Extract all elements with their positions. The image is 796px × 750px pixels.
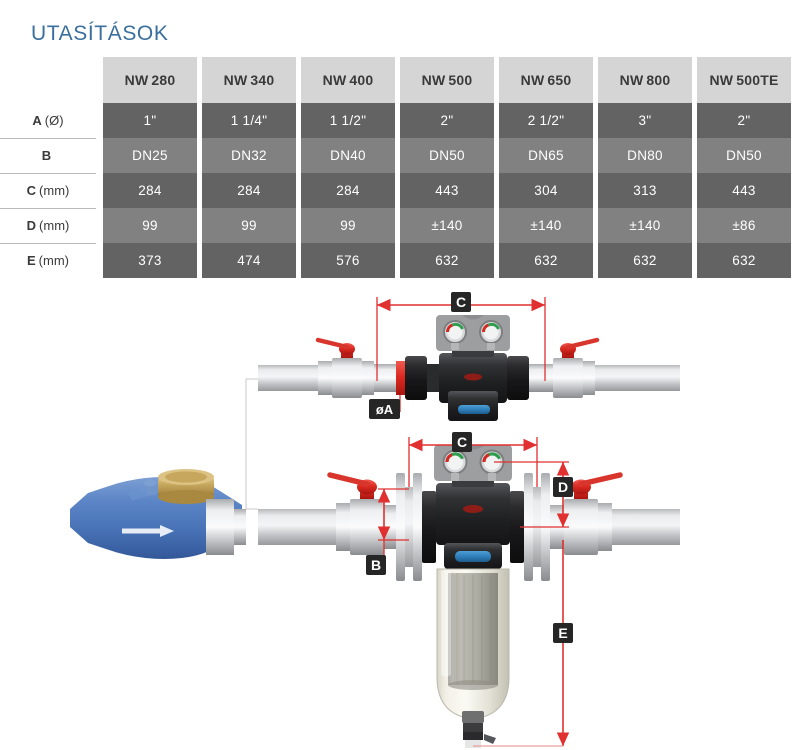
table-column-3: NW500 2" DN50 443 ±140 632 <box>400 57 494 278</box>
reset-button-bottom <box>455 551 491 562</box>
row-key-a: A <box>32 113 41 128</box>
ball-valve-left <box>318 340 374 398</box>
cell-0-2: 1 1/2" <box>301 103 395 138</box>
ball-valve-left-bottom <box>330 475 384 555</box>
row-unit-e: (mm) <box>39 253 69 268</box>
dimension-a-diameter: øA <box>369 395 400 419</box>
cell-4-6: 632 <box>697 243 791 278</box>
column-prefix-3: NW <box>422 72 446 88</box>
cell-0-1: 1 1/4" <box>202 103 296 138</box>
top-assembly <box>258 315 680 421</box>
row-unit-d: (mm) <box>39 218 69 233</box>
valve-lever-left <box>318 340 347 347</box>
bottom-assembly <box>258 445 680 748</box>
cell-3-5: ±140 <box>598 208 692 243</box>
filter-head-top <box>427 315 510 421</box>
cell-1-4: DN65 <box>499 138 593 173</box>
dimension-label-a: øA <box>376 402 394 417</box>
row-label-column: A (Ø) B C (mm) D (mm) E (mm) <box>0 57 100 287</box>
table-column-1: NW340 1 1/4" DN32 284 99 474 <box>202 57 296 278</box>
cell-1-0: DN25 <box>103 138 197 173</box>
cell-3-3: ±140 <box>400 208 494 243</box>
filter-head-bottom <box>434 445 512 569</box>
dimension-label-d: D <box>558 479 568 495</box>
column-prefix-5: NW <box>620 72 644 88</box>
product-diagram: C øA <box>0 287 796 750</box>
column-model-1: 340 <box>250 72 274 88</box>
column-header-3: NW500 <box>400 57 494 103</box>
row-label-c: C (mm) <box>0 173 96 209</box>
specification-table: A (Ø) B C (mm) D (mm) E (mm) NW280 1" DN… <box>0 57 796 287</box>
row-label-e: E (mm) <box>0 243 96 278</box>
row-unit-c: (mm) <box>39 183 69 198</box>
brand-mark-top <box>464 374 482 381</box>
cell-1-6: DN50 <box>697 138 791 173</box>
valve-lever-right <box>568 340 597 347</box>
cell-4-3: 632 <box>400 243 494 278</box>
filter-bowl <box>437 569 509 719</box>
dimension-label-c-top: C <box>456 294 466 310</box>
column-header-4: NW650 <box>499 57 593 103</box>
cell-2-0: 284 <box>103 173 197 208</box>
union-ring-a <box>396 361 405 395</box>
cell-0-4: 2 1/2" <box>499 103 593 138</box>
cell-3-4: ±140 <box>499 208 593 243</box>
column-prefix-1: NW <box>224 72 248 88</box>
cell-4-0: 373 <box>103 243 197 278</box>
reference-guide-lines <box>246 379 258 509</box>
column-model-2: 400 <box>349 72 373 88</box>
pipe-right-outer-bottom <box>612 509 680 545</box>
row-key-b: B <box>42 148 51 163</box>
cell-0-5: 3" <box>598 103 692 138</box>
valve-lever-left-bottom <box>330 475 367 484</box>
dimension-label-e: E <box>558 625 567 641</box>
union-nut-right <box>507 356 529 400</box>
pipe-left-outer <box>258 365 318 391</box>
cell-2-4: 304 <box>499 173 593 208</box>
cell-2-3: 443 <box>400 173 494 208</box>
column-header-0: NW280 <box>103 57 197 103</box>
cell-2-1: 284 <box>202 173 296 208</box>
cell-3-6: ±86 <box>697 208 791 243</box>
cell-4-4: 632 <box>499 243 593 278</box>
row-key-d: D <box>27 218 36 233</box>
cell-1-3: DN50 <box>400 138 494 173</box>
column-prefix-6: NW <box>710 72 734 88</box>
cell-3-2: 99 <box>301 208 395 243</box>
reset-button-top <box>458 405 490 414</box>
cell-2-6: 443 <box>697 173 791 208</box>
union-nut-left <box>405 356 427 400</box>
row-key-c: C <box>27 183 36 198</box>
cell-1-2: DN40 <box>301 138 395 173</box>
cell-0-6: 2" <box>697 103 791 138</box>
brand-mark-bottom <box>463 505 483 513</box>
meter-outlet-nut <box>206 499 234 555</box>
cell-4-2: 576 <box>301 243 395 278</box>
column-model-0: 280 <box>151 72 175 88</box>
table-column-2: NW400 1 1/2" DN40 284 99 576 <box>301 57 395 278</box>
column-prefix-4: NW <box>521 72 545 88</box>
dimension-label-b: B <box>371 557 381 573</box>
cell-3-0: 99 <box>103 208 197 243</box>
meter-brass-cap <box>158 469 214 504</box>
row-unit-a: (Ø) <box>45 113 64 128</box>
column-header-6: NW500TE <box>697 57 791 103</box>
column-prefix-2: NW <box>323 72 347 88</box>
cell-0-0: 1" <box>103 103 197 138</box>
cell-4-1: 474 <box>202 243 296 278</box>
column-model-4: 650 <box>547 72 571 88</box>
cell-2-2: 284 <box>301 173 395 208</box>
row-label-b: B <box>0 138 96 174</box>
cell-3-1: 99 <box>202 208 296 243</box>
column-model-5: 800 <box>646 72 670 88</box>
table-column-4: NW650 2 1/2" DN65 304 ±140 632 <box>499 57 593 278</box>
column-prefix-0: NW <box>125 72 149 88</box>
cell-1-1: DN32 <box>202 138 296 173</box>
row-key-e: E <box>27 253 36 268</box>
dimension-label-c-bottom: C <box>457 434 467 450</box>
column-header-5: NW800 <box>598 57 692 103</box>
cell-2-5: 313 <box>598 173 692 208</box>
page-title: UTASÍTÁSOK <box>31 22 168 46</box>
row-label-a: A (Ø) <box>0 103 96 139</box>
column-model-3: 500 <box>448 72 472 88</box>
valve-lever-right-bottom <box>581 475 620 484</box>
pipe-left-outer-bottom <box>258 509 336 545</box>
table-column-5: NW800 3" DN80 313 ±140 632 <box>598 57 692 278</box>
pipe-right-outer <box>595 365 680 391</box>
row-label-d: D (mm) <box>0 208 96 244</box>
cell-1-5: DN80 <box>598 138 692 173</box>
table-column-6: NW500TE 2" DN50 443 ±86 632 <box>697 57 791 278</box>
column-header-2: NW400 <box>301 57 395 103</box>
drain-valve <box>462 711 496 748</box>
column-header-1: NW340 <box>202 57 296 103</box>
cell-0-3: 2" <box>400 103 494 138</box>
cell-4-5: 632 <box>598 243 692 278</box>
water-meter <box>70 469 246 559</box>
column-model-6: 500TE <box>736 72 778 88</box>
table-column-0: NW280 1" DN25 284 99 373 <box>103 57 197 278</box>
